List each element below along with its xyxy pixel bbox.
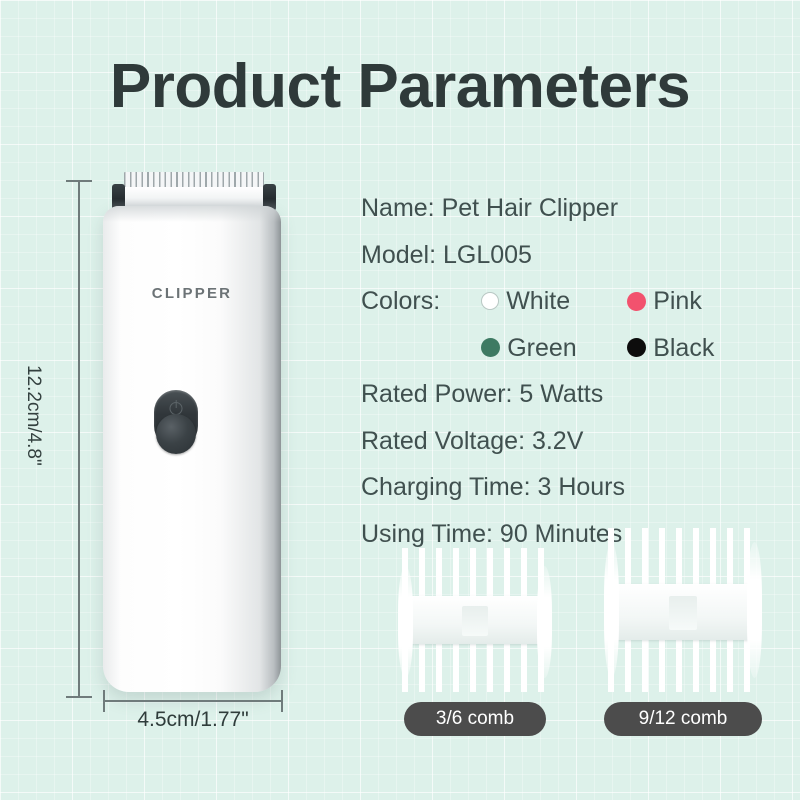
height-dimension-line <box>78 180 80 698</box>
swatch-dot-white <box>481 292 499 310</box>
product-parameters-infographic: Product Parameters CLIPPER 12.2cm/4.8" 4… <box>0 0 800 800</box>
comb-notch-large <box>669 596 697 630</box>
comb-notch-small <box>462 606 488 636</box>
height-dimension-label: 12.2cm/4.8" <box>22 365 44 466</box>
color-label-green: Green <box>507 325 576 372</box>
color-option-black[interactable]: Black <box>627 325 714 372</box>
color-label-white: White <box>506 278 570 325</box>
spec-row-name: Name: Pet Hair Clipper <box>361 185 781 232</box>
swatch-dot-pink <box>627 292 646 311</box>
comb-wing-left-small <box>398 566 413 678</box>
swatch-dot-black <box>627 338 646 357</box>
comb-wing-left-large <box>604 542 619 678</box>
color-option-pink[interactable]: Pink <box>627 278 714 325</box>
swatch-dot-green <box>481 338 500 357</box>
spec-row-rated-voltage: Rated Voltage: 3.2V <box>361 418 781 465</box>
color-label-black: Black <box>653 325 714 372</box>
comb-attachment-large <box>608 528 758 692</box>
comb-label-large: 9/12 comb <box>604 702 762 736</box>
spec-row-rated-power: Rated Power: 5 Watts <box>361 371 781 418</box>
height-cap-top <box>66 180 92 182</box>
height-cap-bottom <box>66 696 92 698</box>
comb-wing-right-small <box>537 566 552 678</box>
power-button[interactable] <box>154 390 198 448</box>
width-dimension-line <box>103 700 283 702</box>
comb-attachment-small <box>402 548 548 692</box>
clipper-brand-label: CLIPPER <box>103 285 281 302</box>
spec-row-colors: Colors: White Pink Green Black <box>361 278 781 371</box>
spec-row-charging-time: Charging Time: 3 Hours <box>361 464 781 511</box>
power-button-cap <box>156 414 196 454</box>
page-title: Product Parameters <box>0 52 800 122</box>
color-option-white[interactable]: White <box>481 278 627 325</box>
width-dimension-label: 4.5cm/1.77" <box>103 708 283 732</box>
spec-row-model: Model: LGL005 <box>361 232 781 279</box>
comb-label-small: 3/6 comb <box>404 702 546 736</box>
clipper-device-image: CLIPPER <box>103 172 281 692</box>
color-swatch-grid: White Pink Green Black <box>481 278 714 371</box>
clipper-body: CLIPPER <box>103 206 281 692</box>
specification-list: Name: Pet Hair Clipper Model: LGL005 Col… <box>361 185 781 557</box>
colors-label: Colors: <box>361 278 440 325</box>
clipper-body-bevel <box>103 206 281 222</box>
comb-wing-right-large <box>747 542 762 678</box>
color-option-green[interactable]: Green <box>481 325 627 372</box>
color-label-pink: Pink <box>653 278 702 325</box>
